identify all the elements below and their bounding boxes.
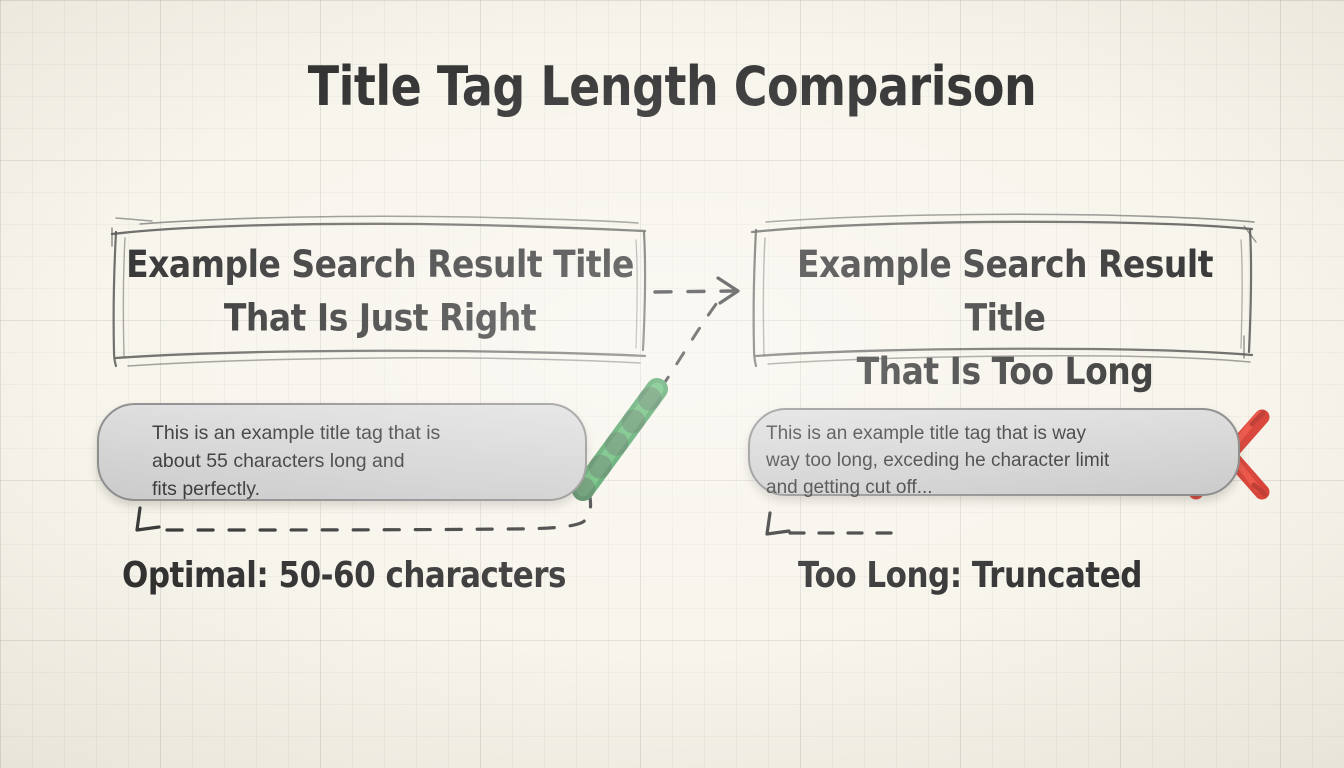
snippet-left-line1: This is an example title tag that is (152, 420, 552, 448)
snippet-right-line1: This is an example title tag that is way (766, 420, 1196, 447)
snippet-text-right: This is an example title tag that is way… (766, 420, 1196, 501)
serp-title-left: Example Search Result Title That Is Just… (120, 238, 640, 345)
snippet-left-line2: about 55 characters long and (152, 448, 552, 476)
dashed-arrow-up-left-right-icon (767, 513, 905, 534)
serp-title-left-line1: Example Search Result Title (120, 238, 640, 291)
caption-right: Too Long: Truncated (798, 556, 1142, 595)
infographic-canvas: Title Tag Length Comparison Example Sear… (0, 0, 1344, 768)
snippet-text-left: This is an example title tag that is abo… (152, 420, 552, 504)
snippet-right-line2: way too long, exceding he character limi… (766, 447, 1196, 474)
caption-left: Optimal: 50-60 characters (122, 556, 566, 595)
snippet-right-line3: and getting cut off... (766, 474, 1196, 501)
snippet-left-line3: fits perfectly. (152, 476, 552, 504)
page-title: Title Tag Length Comparison (0, 58, 1344, 115)
serp-title-left-line2: That Is Just Right (120, 291, 640, 344)
serp-title-right-line2: That Is Too Long (760, 345, 1250, 398)
serp-title-right-line1: Example Search Result Title (760, 238, 1250, 345)
serp-title-right: Example Search Result Title That Is Too … (760, 238, 1250, 398)
dashed-arrow-right-icon (655, 278, 738, 388)
